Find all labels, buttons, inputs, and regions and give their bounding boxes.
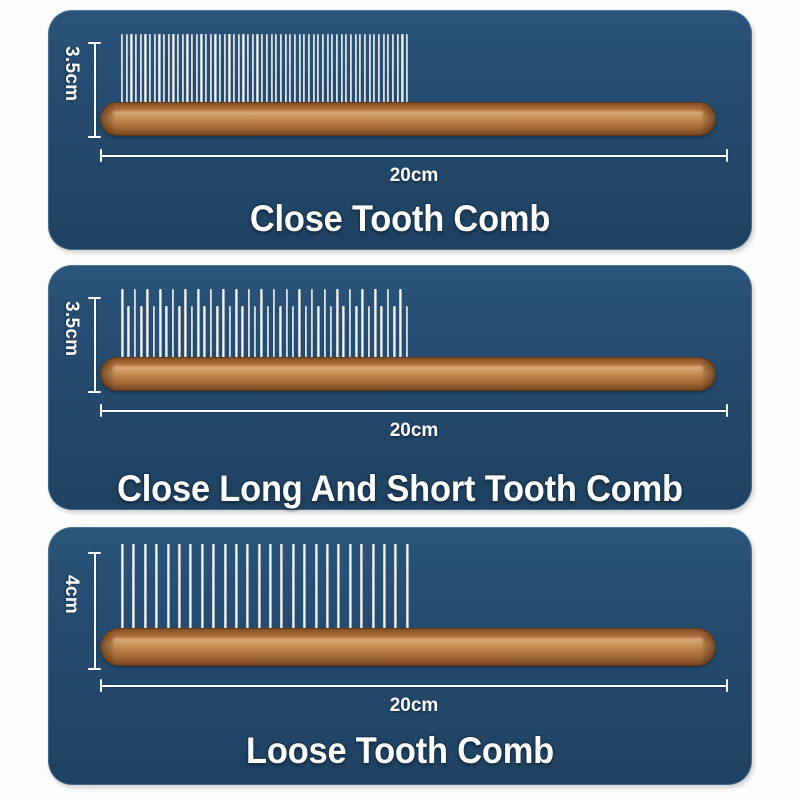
dimension-cap-bottom (88, 136, 101, 138)
comb-tooth (324, 289, 327, 361)
dimension-cap-left (100, 149, 102, 162)
comb-tooth (260, 289, 263, 361)
comb-teeth-3 (121, 542, 409, 632)
comb-tooth (121, 289, 124, 361)
comb-tooth (201, 544, 204, 632)
comb-tooth (203, 306, 206, 361)
comb-tooth (355, 306, 358, 361)
comb-tooth (349, 289, 352, 361)
comb-tooth (144, 34, 146, 106)
comb-tooth (130, 34, 132, 106)
comb-tooth (132, 544, 135, 632)
comb-tooth (135, 34, 137, 106)
comb-tooth (406, 34, 408, 106)
panel-title-2: Close Long And Short Tooth Comb (28, 468, 772, 510)
comb-tooth (369, 34, 371, 106)
dimension-bar (100, 410, 728, 412)
dimension-cap-right (726, 404, 728, 417)
length-dimension-line-1 (100, 149, 728, 162)
comb-tooth (406, 306, 409, 361)
dimension-cap-top (88, 297, 101, 299)
comb-handle-2 (100, 357, 716, 391)
height-dimension-line-2 (88, 297, 101, 393)
comb-handle-3 (100, 628, 716, 666)
dimension-cap-bottom (88, 391, 101, 393)
comb-tooth (266, 34, 268, 106)
handle-right-end (700, 102, 716, 136)
comb-tooth (177, 34, 179, 106)
comb-tooth (210, 289, 213, 361)
comb-tooth (360, 544, 363, 632)
comb-tooth (178, 544, 181, 632)
comb-tooth (146, 289, 149, 361)
dimension-cap-top (88, 42, 101, 44)
comb-tooth (229, 306, 232, 361)
comb-tooth (286, 289, 289, 361)
comb-tooth (285, 34, 287, 106)
dimension-bar (100, 685, 728, 687)
comb-tooth (392, 34, 394, 106)
comb-tooth (364, 34, 366, 106)
comb-tooth (214, 34, 216, 106)
comb-tooth (200, 34, 202, 106)
length-label-3: 20cm (100, 695, 728, 717)
length-dimension-line-3 (100, 679, 728, 692)
length-label-1: 20cm (100, 165, 728, 187)
comb-tooth (349, 544, 352, 632)
comb-tooth (197, 289, 200, 361)
comb-tooth (205, 34, 207, 106)
comb-tooth (140, 306, 143, 361)
comb-tooth (212, 544, 215, 632)
comb-tooth (246, 544, 249, 632)
comb-tooth (373, 34, 375, 106)
comb-tooth (153, 306, 156, 361)
comb-tooth (380, 306, 383, 361)
comb-tooth (311, 289, 314, 361)
comb-tooth (313, 34, 315, 106)
comb-tooth (303, 34, 305, 106)
comb-tooth (322, 34, 324, 106)
comb-teeth-2 (121, 287, 409, 361)
comb-tooth (387, 34, 389, 106)
comb-tooth (383, 544, 386, 632)
comb-tooth (178, 306, 181, 361)
comb-tooth (216, 306, 219, 361)
comb-tooth (163, 34, 165, 106)
comb-tooth (154, 34, 156, 106)
dimension-bar (94, 297, 96, 393)
comb-tooth (305, 306, 308, 361)
comb-tooth (378, 34, 380, 106)
comb-tooth (315, 544, 318, 632)
comb-tooth (191, 306, 194, 361)
height-label-2: 3.5cm (60, 301, 82, 356)
comb-tooth (182, 34, 184, 106)
dimension-cap-right (726, 679, 728, 692)
dimension-bar (94, 552, 96, 670)
comb-tooth (303, 544, 306, 632)
comb-tooth (121, 544, 124, 632)
height-label-3: 4cm (60, 575, 82, 614)
comb-tooth (258, 544, 261, 632)
comb-tooth (368, 306, 371, 361)
comb-tooth (134, 289, 137, 361)
comb-tooth (387, 289, 390, 361)
dimension-cap-left (100, 404, 102, 417)
comb-tooth (337, 544, 340, 632)
comb-tooth (399, 289, 402, 361)
comb-tooth (167, 544, 170, 632)
comb-tooth (317, 306, 320, 361)
comb-tooth (327, 34, 329, 106)
comb-tooth (341, 34, 343, 106)
comb-tooth (342, 306, 345, 361)
dimension-bar (94, 42, 96, 138)
comb-tooth (308, 34, 310, 106)
panel-title-1: Close Tooth Comb (28, 198, 772, 240)
comb-tooth (158, 34, 160, 106)
handle-left-end (100, 102, 116, 136)
comb-tooth (397, 34, 399, 106)
dimension-cap-top (88, 552, 101, 554)
length-label-2: 20cm (100, 420, 728, 442)
comb-tooth (196, 34, 198, 106)
handle-right-end (700, 628, 716, 666)
comb-tooth (383, 34, 385, 106)
comb-tooth (269, 544, 272, 632)
comb-teeth-1 (121, 32, 409, 106)
comb-tooth (248, 289, 251, 361)
comb-tooth (172, 34, 174, 106)
comb-tooth (186, 34, 188, 106)
comb-tooth (233, 34, 235, 106)
comb-tooth (235, 289, 238, 361)
handle-highlight (112, 638, 703, 646)
dimension-bar (100, 155, 728, 157)
comb-tooth (222, 289, 225, 361)
comb-tooth (172, 289, 175, 361)
comb-tooth (159, 289, 162, 361)
height-label-1: 3.5cm (60, 46, 82, 101)
dimension-cap-bottom (88, 668, 101, 670)
comb-tooth (330, 306, 333, 361)
comb-tooth (254, 306, 257, 361)
comb-tooth (247, 34, 249, 106)
comb-tooth (279, 306, 282, 361)
comb-tooth (228, 34, 230, 106)
handle-left-end (100, 628, 116, 666)
comb-tooth (273, 289, 276, 361)
comb-tooth (355, 34, 357, 106)
comb-tooth (261, 34, 263, 106)
comb-tooth (317, 34, 319, 106)
comb-tooth (165, 306, 168, 361)
comb-tooth (350, 34, 352, 106)
handle-highlight (112, 111, 703, 118)
comb-tooth (406, 544, 409, 632)
comb-tooth (292, 306, 295, 361)
comb-tooth (271, 34, 273, 106)
comb-tooth (144, 544, 147, 632)
height-dimension-line-3 (88, 552, 101, 670)
comb-tooth (372, 544, 375, 632)
comb-tooth (224, 544, 227, 632)
comb-tooth (361, 289, 364, 361)
comb-tooth (267, 306, 270, 361)
comb-tooth (275, 34, 277, 106)
comb-tooth (256, 34, 258, 106)
length-dimension-line-2 (100, 404, 728, 417)
comb-tooth (280, 34, 282, 106)
handle-highlight (112, 366, 703, 373)
comb-tooth (140, 34, 142, 106)
comb-tooth (168, 34, 170, 106)
comb-tooth (374, 289, 377, 361)
comb-tooth (149, 34, 151, 106)
comb-tooth (210, 34, 212, 106)
comb-tooth (394, 544, 397, 632)
handle-left-end (100, 357, 116, 391)
comb-tooth (345, 34, 347, 106)
comb-tooth (191, 34, 193, 106)
comb-handle-1 (100, 102, 716, 136)
comb-tooth (294, 34, 296, 106)
comb-tooth (224, 34, 226, 106)
dimension-cap-left (100, 679, 102, 692)
comb-tooth (127, 306, 130, 361)
comb-tooth (401, 34, 403, 106)
comb-tooth (184, 289, 187, 361)
comb-tooth (331, 34, 333, 106)
comb-tooth (155, 544, 158, 632)
dimension-cap-right (726, 149, 728, 162)
comb-tooth (219, 34, 221, 106)
comb-tooth (292, 544, 295, 632)
comb-tooth (336, 34, 338, 106)
comb-tooth (189, 544, 192, 632)
infographic-stage: 3.5cm 20cm Close Tooth Comb 3.5cm (0, 0, 800, 800)
comb-tooth (252, 34, 254, 106)
height-dimension-line-1 (88, 42, 101, 138)
comb-tooth (121, 34, 123, 106)
comb-tooth (298, 289, 301, 361)
comb-tooth (289, 34, 291, 106)
comb-tooth (299, 34, 301, 106)
comb-tooth (126, 34, 128, 106)
comb-tooth (238, 34, 240, 106)
comb-tooth (280, 544, 283, 632)
handle-right-end (700, 357, 716, 391)
comb-tooth (359, 34, 361, 106)
comb-tooth (326, 544, 329, 632)
comb-tooth (393, 306, 396, 361)
panel-title-3: Loose Tooth Comb (28, 730, 772, 772)
comb-tooth (241, 306, 244, 361)
comb-tooth (336, 289, 339, 361)
comb-tooth (235, 544, 238, 632)
comb-tooth (242, 34, 244, 106)
